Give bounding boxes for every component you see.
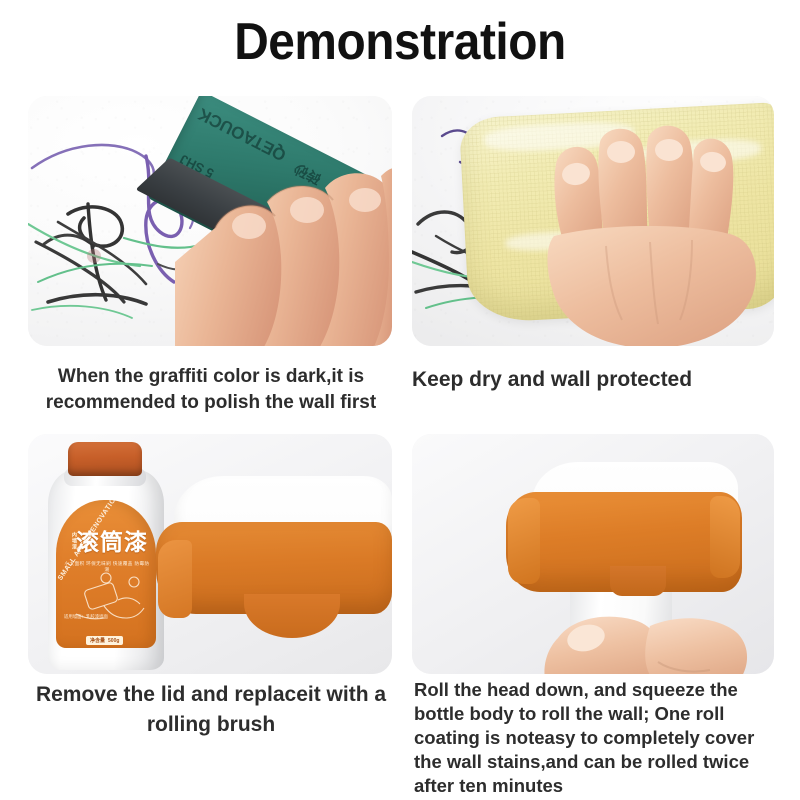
panel-photo-replace-lid: 内墙漆 滚筒漆 小大面积 环保无味刷 快速覆盖 防霉防潮: [28, 434, 392, 674]
hand-holding-sponge: [175, 142, 392, 346]
label-kicker: 内墙漆: [63, 532, 77, 550]
roller-stem: [610, 566, 666, 596]
panel-keep-dry[interactable]: [412, 96, 774, 346]
panel-photo-polish-wall: QETAOUCK 5 SHJ 砖砂 砂磨: [28, 96, 392, 346]
label-illustration: [60, 570, 154, 632]
net-weight-label: 净含量: [90, 637, 105, 644]
net-weight-value: 500g: [108, 638, 119, 644]
panel-polish-wall[interactable]: QETAOUCK 5 SHJ 砖砂 砂磨: [28, 96, 392, 346]
roller-stem: [244, 594, 340, 638]
roller-side-lip: [158, 540, 192, 618]
roller-left-wing: [508, 498, 540, 584]
hand-wiping-cloth: [508, 124, 770, 346]
panel-photo-roll-the-wall: [412, 434, 774, 674]
panel-photo-keep-dry: [412, 96, 774, 346]
panel-replace-lid[interactable]: 内墙漆 滚筒漆 小大面积 环保无味刷 快速覆盖 防霉防潮: [28, 434, 392, 674]
net-weight-badge: 净含量 500g: [86, 636, 123, 645]
label-footer: 适用墙面：乳胶漆墙面: [64, 614, 150, 620]
caption-keep-dry: Keep dry and wall protected: [412, 366, 780, 394]
panel-roll-the-wall[interactable]: [412, 434, 774, 674]
caption-replace-lid: Remove the lid and replaceit with a roll…: [24, 680, 398, 740]
caption-roll-the-wall: Roll the head down, and squeeze the bott…: [414, 678, 786, 798]
hand-shape: [530, 604, 750, 674]
bottle-label: 内墙漆 滚筒漆 小大面积 环保无味刷 快速覆盖 防霉防潮: [56, 500, 156, 648]
hand-shape: [508, 124, 770, 346]
paint-bottle: 内墙漆 滚筒漆 小大面积 环保无味刷 快速覆盖 防霉防潮: [42, 442, 170, 670]
roller-brush-on-wall: [506, 462, 742, 622]
roller-brush-head: [156, 476, 392, 652]
hand-shape: [175, 142, 392, 346]
bottle-cap: [68, 442, 142, 476]
caption-polish-wall: When the graffiti color is dark,it is re…: [24, 364, 398, 416]
demonstration-grid: QETAOUCK 5 SHJ 砖砂 砂磨: [0, 0, 800, 800]
roller-right-wing: [710, 496, 740, 578]
hand-squeezing-bottle: [530, 604, 750, 674]
